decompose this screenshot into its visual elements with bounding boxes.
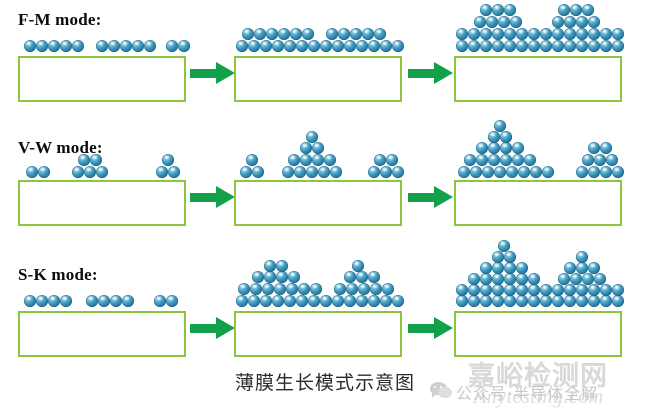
atom-sphere — [72, 40, 84, 52]
atom-sphere — [350, 28, 362, 40]
atom-sphere — [576, 40, 588, 52]
atom-sphere — [380, 295, 392, 307]
arrow-shaft — [190, 193, 218, 202]
atom-sphere — [36, 295, 48, 307]
atom-sphere — [326, 28, 338, 40]
atom-sphere — [290, 28, 302, 40]
atom-sphere — [38, 166, 50, 178]
atom-sphere — [332, 295, 344, 307]
atom-sphere — [368, 295, 380, 307]
atom-cluster-sk-2 — [234, 255, 406, 311]
atom-sphere — [564, 262, 576, 274]
atom-cluster-fm-2 — [234, 0, 406, 56]
atom-sphere — [468, 273, 480, 285]
atom-sphere — [528, 40, 540, 52]
atom-cluster-sk-3 — [454, 255, 626, 311]
atom-sphere — [248, 40, 260, 52]
atom-sphere — [504, 295, 516, 307]
atom-sphere — [98, 295, 110, 307]
atom-sphere — [248, 295, 260, 307]
arrow-head — [216, 186, 235, 208]
atom-sphere — [122, 295, 134, 307]
atom-sphere — [392, 166, 404, 178]
atom-sphere — [588, 16, 600, 28]
atom-sphere — [468, 28, 480, 40]
atom-sphere — [492, 40, 504, 52]
atom-sphere — [242, 28, 254, 40]
atom-sphere — [480, 40, 492, 52]
substrate-sk-1 — [18, 311, 186, 357]
process-arrow-sk-2 — [408, 317, 454, 339]
atom-sphere — [240, 166, 252, 178]
atom-sphere — [558, 273, 570, 285]
atom-sphere — [600, 28, 612, 40]
atom-sphere — [552, 28, 564, 40]
growth-mode-row-sk: S-K mode: — [0, 255, 650, 373]
atom-sphere — [310, 283, 322, 295]
atom-sphere — [480, 273, 492, 285]
atom-sphere — [576, 284, 588, 296]
atom-sphere — [516, 295, 528, 307]
atom-sphere — [368, 40, 380, 52]
atom-sphere — [36, 40, 48, 52]
atom-sphere — [272, 40, 284, 52]
atom-sphere — [564, 295, 576, 307]
atom-sphere — [294, 166, 306, 178]
atom-sphere — [24, 295, 36, 307]
atom-sphere — [468, 40, 480, 52]
atom-sphere — [480, 284, 492, 296]
atom-sphere — [498, 240, 510, 252]
atom-sphere — [552, 16, 564, 28]
atom-sphere — [254, 28, 266, 40]
stage-panel-sk-3 — [454, 255, 626, 373]
atom-sphere — [594, 154, 606, 166]
atom-sphere — [488, 142, 500, 154]
atom-sphere — [504, 273, 516, 285]
atom-cluster-vw-3 — [454, 128, 626, 180]
atom-sphere — [564, 28, 576, 40]
atom-sphere — [276, 260, 288, 272]
atom-sphere — [300, 154, 312, 166]
atom-sphere — [582, 273, 594, 285]
stage-panel-sk-2 — [234, 255, 406, 373]
atom-cluster-sk-1 — [18, 255, 190, 311]
atom-sphere — [570, 273, 582, 285]
atom-sphere — [524, 154, 536, 166]
atom-sphere — [488, 131, 500, 143]
atom-sphere — [332, 40, 344, 52]
atom-sphere — [318, 166, 330, 178]
atom-cluster-vw-1 — [18, 128, 190, 180]
atom-sphere — [492, 4, 504, 16]
atom-sphere — [392, 40, 404, 52]
atom-sphere — [504, 251, 516, 263]
atom-sphere — [612, 166, 624, 178]
atom-sphere — [108, 40, 120, 52]
atom-sphere — [166, 295, 178, 307]
atom-sphere — [600, 142, 612, 154]
atom-sphere — [570, 4, 582, 16]
arrow-head — [434, 62, 453, 84]
atom-sphere — [480, 295, 492, 307]
arrow-head — [434, 186, 453, 208]
stage-panel-vw-2 — [234, 128, 406, 246]
atom-sphere — [516, 40, 528, 52]
atom-sphere — [48, 295, 60, 307]
atom-sphere — [288, 271, 300, 283]
atom-sphere — [612, 295, 624, 307]
atom-sphere — [476, 154, 488, 166]
growth-mode-row-fm: F-M mode: — [0, 0, 650, 118]
substrate-vw-3 — [454, 180, 622, 226]
atom-sphere — [492, 295, 504, 307]
atom-sphere — [274, 283, 286, 295]
atom-sphere — [324, 154, 336, 166]
atom-sphere — [250, 283, 262, 295]
atom-sphere — [564, 40, 576, 52]
atom-sphere — [282, 166, 294, 178]
atom-sphere — [178, 40, 190, 52]
atom-sphere — [284, 40, 296, 52]
atom-sphere — [308, 40, 320, 52]
atom-sphere — [362, 28, 374, 40]
atom-sphere — [296, 295, 308, 307]
atom-sphere — [374, 28, 386, 40]
atom-sphere — [356, 295, 368, 307]
atom-sphere — [558, 4, 570, 16]
atom-sphere — [480, 4, 492, 16]
atom-sphere — [492, 251, 504, 263]
atom-sphere — [246, 154, 258, 166]
atom-sphere — [528, 295, 540, 307]
atom-sphere — [612, 284, 624, 296]
atom-sphere — [344, 271, 356, 283]
atom-sphere — [500, 142, 512, 154]
atom-sphere — [86, 295, 98, 307]
atom-sphere — [492, 284, 504, 296]
atom-sphere — [516, 273, 528, 285]
atom-sphere — [500, 131, 512, 143]
atom-sphere — [236, 40, 248, 52]
atom-sphere — [480, 262, 492, 274]
atom-sphere — [344, 40, 356, 52]
atom-sphere — [494, 166, 506, 178]
atom-sphere — [60, 295, 72, 307]
atom-sphere — [48, 40, 60, 52]
atom-sphere — [498, 16, 510, 28]
atom-sphere — [588, 295, 600, 307]
atom-sphere — [162, 154, 174, 166]
atom-sphere — [264, 271, 276, 283]
atom-sphere — [72, 166, 84, 178]
atom-sphere — [272, 295, 284, 307]
atom-sphere — [474, 16, 486, 28]
atom-sphere — [500, 154, 512, 166]
substrate-fm-2 — [234, 56, 402, 102]
atom-sphere — [90, 154, 102, 166]
atom-sphere — [552, 295, 564, 307]
atom-sphere — [476, 142, 488, 154]
atom-sphere — [284, 295, 296, 307]
atom-sphere — [482, 166, 494, 178]
atom-sphere — [540, 295, 552, 307]
atom-sphere — [60, 40, 72, 52]
atom-sphere — [506, 166, 518, 178]
atom-sphere — [588, 166, 600, 178]
atom-sphere — [132, 40, 144, 52]
atom-sphere — [334, 283, 346, 295]
atom-sphere — [156, 166, 168, 178]
arrow-shaft — [190, 69, 218, 78]
atom-sphere — [528, 28, 540, 40]
atom-sphere — [576, 262, 588, 274]
atom-sphere — [510, 16, 522, 28]
atom-sphere — [300, 142, 312, 154]
atom-sphere — [386, 154, 398, 166]
atom-sphere — [564, 16, 576, 28]
atom-sphere — [252, 271, 264, 283]
atom-sphere — [600, 40, 612, 52]
atom-sphere — [320, 40, 332, 52]
atom-sphere — [516, 262, 528, 274]
atom-sphere — [512, 154, 524, 166]
atom-sphere — [588, 284, 600, 296]
atom-sphere — [296, 40, 308, 52]
diagram-canvas: F-M mode: V-W mode: — [0, 0, 650, 418]
atom-sphere — [494, 120, 506, 132]
atom-sphere — [576, 16, 588, 28]
atom-sphere — [380, 40, 392, 52]
atom-sphere — [276, 271, 288, 283]
atom-sphere — [600, 295, 612, 307]
atom-sphere — [486, 16, 498, 28]
atom-sphere — [344, 295, 356, 307]
atom-sphere — [576, 28, 588, 40]
atom-sphere — [380, 166, 392, 178]
atom-cluster-vw-2 — [234, 128, 406, 180]
atom-sphere — [612, 40, 624, 52]
arrow-shaft — [408, 69, 436, 78]
atom-sphere — [166, 40, 178, 52]
atom-sphere — [582, 154, 594, 166]
atom-sphere — [528, 273, 540, 285]
atom-sphere — [356, 40, 368, 52]
atom-sphere — [588, 262, 600, 274]
atom-sphere — [468, 295, 480, 307]
atom-sphere — [96, 166, 108, 178]
atom-sphere — [338, 28, 350, 40]
atom-sphere — [286, 283, 298, 295]
atom-sphere — [236, 295, 248, 307]
atom-sphere — [528, 284, 540, 296]
atom-sphere — [382, 283, 394, 295]
atom-sphere — [518, 166, 530, 178]
atom-sphere — [96, 40, 108, 52]
stage-panel-vw-3 — [454, 128, 626, 246]
atom-sphere — [540, 28, 552, 40]
stage-panel-vw-1 — [18, 128, 190, 246]
atom-sphere — [302, 28, 314, 40]
atom-sphere — [504, 262, 516, 274]
atom-sphere — [238, 283, 250, 295]
atom-sphere — [120, 40, 132, 52]
atom-sphere — [260, 40, 272, 52]
atom-sphere — [480, 28, 492, 40]
atom-sphere — [470, 166, 482, 178]
atom-sphere — [312, 142, 324, 154]
arrow-head — [216, 317, 235, 339]
process-arrow-vw-1 — [190, 186, 236, 208]
atom-sphere — [456, 284, 468, 296]
arrow-head — [434, 317, 453, 339]
atom-sphere — [266, 28, 278, 40]
atom-sphere — [456, 40, 468, 52]
arrow-shaft — [190, 324, 218, 333]
stage-panel-fm-3 — [454, 0, 626, 118]
atom-sphere — [308, 295, 320, 307]
atom-sphere — [492, 262, 504, 274]
atom-sphere — [260, 295, 272, 307]
atom-sphere — [154, 295, 166, 307]
atom-sphere — [600, 284, 612, 296]
atom-sphere — [504, 4, 516, 16]
atom-sphere — [84, 166, 96, 178]
atom-sphere — [306, 131, 318, 143]
atom-sphere — [368, 271, 380, 283]
atom-sphere — [298, 283, 310, 295]
atom-sphere — [504, 28, 516, 40]
substrate-vw-2 — [234, 180, 402, 226]
atom-sphere — [320, 295, 332, 307]
atom-cluster-fm-1 — [18, 0, 190, 56]
atom-sphere — [576, 251, 588, 263]
atom-sphere — [330, 166, 342, 178]
substrate-fm-1 — [18, 56, 186, 102]
substrate-sk-2 — [234, 311, 402, 357]
process-arrow-fm-1 — [190, 62, 236, 84]
atom-cluster-fm-3 — [454, 0, 626, 56]
atom-sphere — [552, 40, 564, 52]
atom-sphere — [530, 166, 542, 178]
atom-sphere — [594, 273, 606, 285]
substrate-sk-3 — [454, 311, 622, 357]
atom-sphere — [358, 283, 370, 295]
atom-sphere — [168, 166, 180, 178]
atom-sphere — [352, 260, 364, 272]
stage-panel-sk-1 — [18, 255, 190, 373]
atom-sphere — [540, 40, 552, 52]
atom-sphere — [588, 28, 600, 40]
atom-sphere — [288, 154, 300, 166]
atom-sphere — [78, 154, 90, 166]
atom-sphere — [346, 283, 358, 295]
atom-sphere — [392, 295, 404, 307]
atom-sphere — [576, 295, 588, 307]
atom-sphere — [464, 154, 476, 166]
atom-sphere — [144, 40, 156, 52]
atom-sphere — [564, 284, 576, 296]
stage-panel-fm-2 — [234, 0, 406, 118]
atom-sphere — [468, 284, 480, 296]
atom-sphere — [26, 166, 38, 178]
atom-sphere — [504, 284, 516, 296]
arrow-shaft — [408, 193, 436, 202]
process-arrow-fm-2 — [408, 62, 454, 84]
atom-sphere — [370, 283, 382, 295]
process-arrow-vw-2 — [408, 186, 454, 208]
atom-sphere — [456, 295, 468, 307]
atom-sphere — [262, 283, 274, 295]
atom-sphere — [458, 166, 470, 178]
atom-sphere — [552, 284, 564, 296]
atom-sphere — [110, 295, 122, 307]
atom-sphere — [582, 4, 594, 16]
atom-sphere — [540, 284, 552, 296]
atom-sphere — [278, 28, 290, 40]
atom-sphere — [588, 40, 600, 52]
arrow-head — [216, 62, 235, 84]
atom-sphere — [576, 166, 588, 178]
atom-sphere — [512, 142, 524, 154]
atom-sphere — [488, 154, 500, 166]
atom-sphere — [504, 40, 516, 52]
atom-sphere — [306, 166, 318, 178]
atom-sphere — [374, 154, 386, 166]
atom-sphere — [542, 166, 554, 178]
atom-sphere — [612, 28, 624, 40]
atom-sphere — [492, 28, 504, 40]
atom-sphere — [368, 166, 380, 178]
atom-sphere — [456, 28, 468, 40]
substrate-vw-1 — [18, 180, 186, 226]
process-arrow-sk-1 — [190, 317, 236, 339]
atom-sphere — [600, 166, 612, 178]
atom-sphere — [516, 28, 528, 40]
atom-sphere — [516, 284, 528, 296]
atom-sphere — [492, 273, 504, 285]
atom-sphere — [24, 40, 36, 52]
atom-sphere — [312, 154, 324, 166]
figure-caption: 薄膜生长模式示意图 — [0, 368, 650, 395]
stage-panel-fm-1 — [18, 0, 190, 118]
arrow-shaft — [408, 324, 436, 333]
growth-mode-row-vw: V-W mode: — [0, 128, 650, 246]
atom-sphere — [606, 154, 618, 166]
substrate-fm-3 — [454, 56, 622, 102]
atom-sphere — [356, 271, 368, 283]
atom-sphere — [252, 166, 264, 178]
atom-sphere — [264, 260, 276, 272]
atom-sphere — [588, 142, 600, 154]
